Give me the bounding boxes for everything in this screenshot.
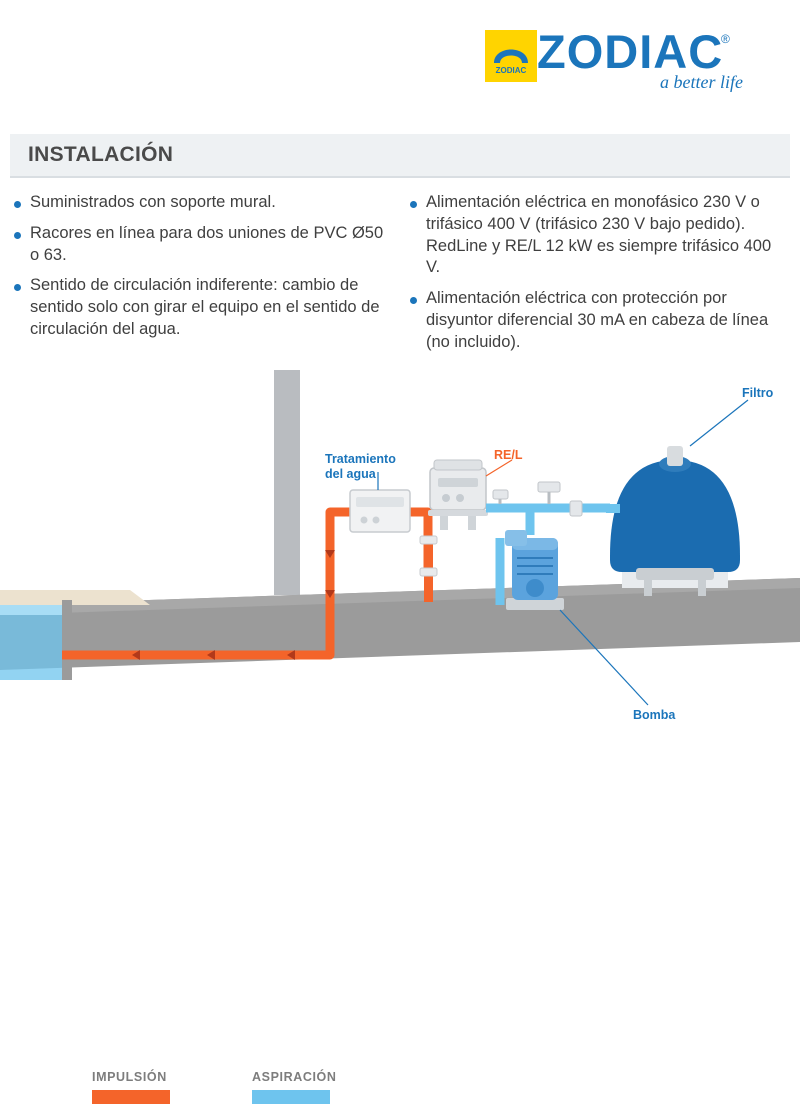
callout-filtro: Filtro [742, 386, 773, 401]
callout-rel: RE/L [494, 448, 522, 463]
list-item: Sentido de circulación indiferente: camb… [14, 275, 386, 340]
bullet-text: Alimentación eléctrica en monofásico 230… [426, 192, 782, 279]
callout-tratamiento: Tratamiento del agua [325, 452, 396, 482]
diagram-legend: IMPULSIÓN ASPIRACIÓN [0, 1070, 800, 1120]
pool-wall [62, 600, 72, 680]
bullet-dot-icon [14, 201, 21, 208]
list-item: Alimentación eléctrica en monofásico 230… [410, 192, 782, 279]
list-item: Alimentación eléctrica con protección po… [410, 288, 782, 353]
list-item: Racores en línea para dos uniones de PVC… [14, 223, 386, 267]
bullet-dot-icon [14, 232, 21, 239]
bullet-text: Racores en línea para dos uniones de PVC… [30, 223, 386, 267]
bullet-dot-icon [14, 284, 21, 291]
legend-label: IMPULSIÓN [92, 1070, 170, 1084]
bullet-columns: Suministrados con soporte mural. Racores… [14, 192, 794, 362]
bullet-text: Alimentación eléctrica con protección po… [426, 288, 782, 353]
filter-inlet-pipe [606, 504, 620, 513]
page-title: INSTALACIÓN [28, 143, 173, 167]
callout-tratamiento-line1: Tratamiento [325, 452, 396, 466]
bullet-column-left: Suministrados con soporte mural. Racores… [14, 192, 386, 362]
diagram-svg [0, 360, 800, 800]
pump-unit [505, 530, 564, 610]
wall-pillar [274, 370, 300, 595]
legend-item-aspiracion: ASPIRACIÓN [252, 1070, 336, 1104]
title-divider [10, 176, 790, 178]
pool-water [0, 605, 62, 680]
installation-diagram: Filtro RE/L Tratamiento del agua Bomba I… [0, 360, 800, 800]
filter-unit [610, 446, 740, 596]
callout-bomba: Bomba [633, 708, 675, 723]
list-item: Suministrados con soporte mural. [14, 192, 386, 214]
bullet-text: Suministrados con soporte mural. [30, 192, 276, 214]
bullet-dot-icon [410, 201, 417, 208]
zodiac-badge-icon: ZODIAC [485, 30, 537, 82]
logo-wordmark: ZODIAC [537, 24, 723, 79]
legend-label: ASPIRACIÓN [252, 1070, 336, 1084]
callout-tratamiento-line2: del agua [325, 467, 376, 481]
rel-heat-pump [428, 460, 488, 530]
logo-tagline: a better life [660, 72, 743, 93]
bullet-dot-icon [410, 297, 417, 304]
legend-swatch-aspiracion [252, 1090, 330, 1104]
zodiac-logo: ZODIAC ZODIAC ® a better life [485, 22, 745, 102]
water-treatment-unit [350, 490, 410, 532]
leader-line-filtro [690, 400, 748, 446]
legend-swatch-impulsion [92, 1090, 170, 1104]
svg-text:ZODIAC: ZODIAC [496, 66, 527, 75]
legend-item-impulsion: IMPULSIÓN [92, 1070, 170, 1104]
section-title-bar: INSTALACIÓN [10, 134, 790, 176]
bullet-text: Sentido de circulación indiferente: camb… [30, 275, 386, 340]
logo-registered-mark: ® [721, 32, 730, 46]
pool-surface [0, 605, 62, 615]
bullet-column-right: Alimentación eléctrica en monofásico 230… [410, 192, 782, 362]
sand-area [0, 590, 150, 605]
